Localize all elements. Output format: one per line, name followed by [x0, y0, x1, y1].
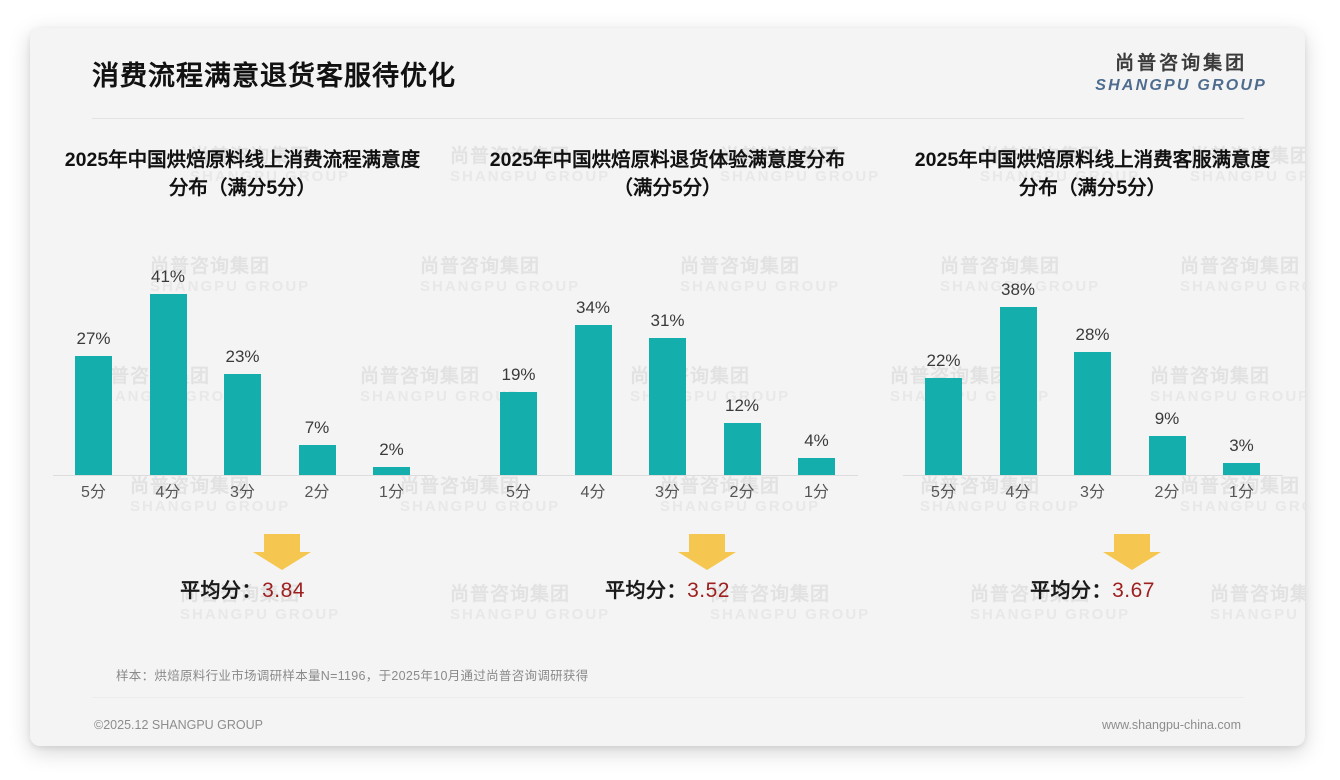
page-title: 消费流程满意退货客服待优化	[92, 54, 456, 93]
bar-value-label: 38%	[1001, 280, 1035, 300]
bar-value-label: 19%	[501, 365, 535, 385]
bar-column[interactable]: 7%	[286, 236, 348, 476]
header-divider	[92, 118, 1244, 119]
average-score-label: 平均分：	[1030, 580, 1112, 602]
bar-column[interactable]: 12%	[711, 236, 773, 476]
x-tick-label: 5分	[488, 478, 550, 508]
x-tick-label: 1分	[786, 478, 848, 508]
x-tick-label: 2分	[286, 478, 348, 508]
average-score-text: 平均分：3.67	[890, 574, 1295, 603]
chart-title: 2025年中国烘焙原料线上消费流程满意度分布（满分5分）	[40, 146, 445, 208]
x-tick-label: 4分	[137, 478, 199, 508]
bar[interactable]	[1223, 463, 1260, 476]
average-score-value: 3.84	[262, 579, 305, 602]
chart-panel-2: 2025年中国烘焙原料退货体验满意度分布（满分5分）19%34%31%12%4%…	[455, 146, 880, 666]
x-tick-label: 3分	[1062, 478, 1124, 508]
bar-value-label: 7%	[305, 418, 330, 438]
charts-row: 2025年中国烘焙原料线上消费流程满意度分布（满分5分）27%41%23%7%2…	[30, 146, 1305, 666]
down-arrow-icon	[678, 534, 736, 570]
bar[interactable]	[1074, 352, 1111, 476]
chart-title: 2025年中国烘焙原料退货体验满意度分布（满分5分）	[465, 146, 870, 208]
website-link[interactable]: www.shangpu-china.com	[1102, 718, 1241, 732]
bar-group: 22%38%28%9%3%	[897, 236, 1289, 476]
x-axis-line	[903, 475, 1283, 476]
x-tick-label: 1分	[361, 478, 423, 508]
bar-value-label: 23%	[225, 347, 259, 367]
bar-column[interactable]: 38%	[987, 236, 1049, 476]
slide-header: 消费流程满意退货客服待优化 尚普咨询集团 SHANGPU GROUP	[30, 28, 1305, 116]
x-tick-label: 4分	[987, 478, 1049, 508]
x-tick-label: 3分	[637, 478, 699, 508]
bar-column[interactable]: 28%	[1062, 236, 1124, 476]
x-axis-ticks: 5分4分3分2分1分	[472, 478, 864, 508]
x-axis-ticks: 5分4分3分2分1分	[897, 478, 1289, 508]
bar-column[interactable]: 23%	[212, 236, 274, 476]
bar[interactable]	[724, 423, 761, 476]
footer-divider	[92, 697, 1244, 698]
average-score-row: 平均分：3.67	[890, 534, 1295, 608]
bar-column[interactable]: 22%	[913, 236, 975, 476]
average-score-value: 3.67	[1112, 579, 1155, 602]
bar[interactable]	[798, 458, 835, 476]
chart-panel-1: 2025年中国烘焙原料线上消费流程满意度分布（满分5分）27%41%23%7%2…	[30, 146, 455, 666]
bar-group: 19%34%31%12%4%	[472, 236, 864, 476]
bar[interactable]	[150, 294, 187, 476]
bar-value-label: 34%	[576, 298, 610, 318]
average-score-text: 平均分：3.84	[40, 574, 445, 603]
average-score-row: 平均分：3.52	[465, 534, 870, 608]
bar-column[interactable]: 41%	[137, 236, 199, 476]
bar[interactable]	[925, 378, 962, 476]
brand-logo: 尚普咨询集团 SHANGPU GROUP	[1095, 52, 1267, 95]
bar-value-label: 41%	[151, 267, 185, 287]
logo-english-text: SHANGPU GROUP	[1095, 76, 1267, 95]
chart-panel-3: 2025年中国烘焙原料线上消费客服满意度分布（满分5分）22%38%28%9%3…	[880, 146, 1305, 666]
average-score-label: 平均分：	[180, 580, 262, 602]
down-arrow-icon	[1103, 534, 1161, 570]
bar-value-label: 27%	[76, 329, 110, 349]
x-tick-label: 4分	[562, 478, 624, 508]
sample-footnote: 样本：烘焙原料行业市场调研样本量N=1196，于2025年10月通过尚普咨询调研…	[30, 665, 1305, 684]
bar-group: 27%41%23%7%2%	[47, 236, 439, 476]
average-score-label: 平均分：	[605, 580, 687, 602]
bar-value-label: 31%	[650, 311, 684, 331]
bar-value-label: 9%	[1155, 409, 1180, 429]
bar[interactable]	[224, 374, 261, 476]
x-axis-line	[478, 475, 858, 476]
chart-plot: 27%41%23%7%2%5分4分3分2分1分	[47, 208, 439, 508]
bar-value-label: 22%	[926, 351, 960, 371]
x-axis-ticks: 5分4分3分2分1分	[47, 478, 439, 508]
bar-column[interactable]: 19%	[488, 236, 550, 476]
copyright-text: ©2025.12 SHANGPU GROUP	[94, 718, 263, 732]
bar-value-label: 4%	[804, 431, 829, 451]
chart-plot: 19%34%31%12%4%5分4分3分2分1分	[472, 208, 864, 508]
bar[interactable]	[649, 338, 686, 476]
x-tick-label: 2分	[1136, 478, 1198, 508]
bar[interactable]	[299, 445, 336, 476]
average-score-value: 3.52	[687, 579, 730, 602]
x-axis-line	[53, 475, 433, 476]
x-tick-label: 2分	[711, 478, 773, 508]
x-tick-label: 1分	[1211, 478, 1273, 508]
average-score-row: 平均分：3.84	[40, 534, 445, 608]
x-tick-label: 3分	[212, 478, 274, 508]
down-arrow-icon	[253, 534, 311, 570]
bar-column[interactable]: 34%	[562, 236, 624, 476]
bar-value-label: 28%	[1075, 325, 1109, 345]
bar-column[interactable]: 3%	[1211, 236, 1273, 476]
bar-column[interactable]: 9%	[1136, 236, 1198, 476]
x-tick-label: 5分	[63, 478, 125, 508]
x-tick-label: 5分	[913, 478, 975, 508]
bar[interactable]	[75, 356, 112, 476]
bar-column[interactable]: 4%	[786, 236, 848, 476]
bar-column[interactable]: 31%	[637, 236, 699, 476]
bar-value-label: 12%	[725, 396, 759, 416]
average-score-text: 平均分：3.52	[465, 574, 870, 603]
logo-chinese-text: 尚普咨询集团	[1095, 52, 1267, 76]
bar[interactable]	[1000, 307, 1037, 476]
slide-footer: ©2025.12 SHANGPU GROUP www.shangpu-china…	[30, 718, 1305, 732]
bar-column[interactable]: 2%	[361, 236, 423, 476]
bar-value-label: 2%	[379, 440, 404, 460]
bar[interactable]	[500, 392, 537, 476]
bar[interactable]	[1149, 436, 1186, 476]
chart-title: 2025年中国烘焙原料线上消费客服满意度分布（满分5分）	[890, 146, 1295, 208]
bar-column[interactable]: 27%	[63, 236, 125, 476]
slide-card: 尚普咨询集团SHANGPU GROUP尚普咨询集团SHANGPU GROUP尚普…	[30, 28, 1305, 746]
chart-plot: 22%38%28%9%3%5分4分3分2分1分	[897, 208, 1289, 508]
bar[interactable]	[575, 325, 612, 476]
bar-value-label: 3%	[1229, 436, 1254, 456]
